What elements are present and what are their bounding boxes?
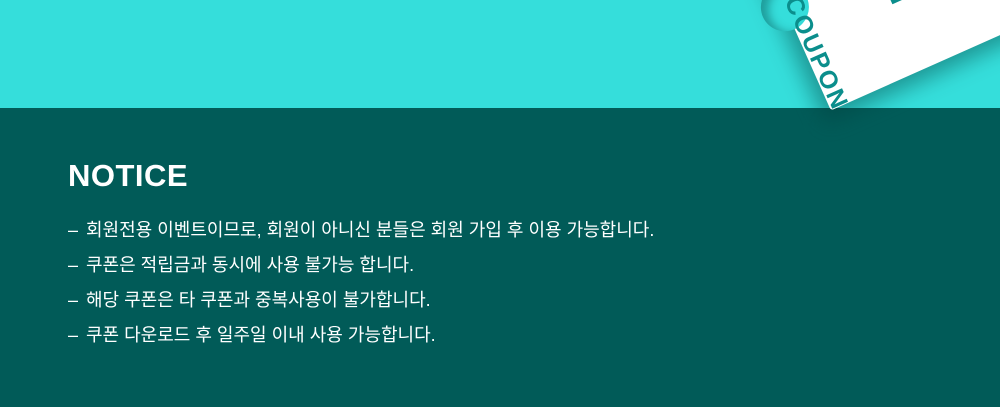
bullet-dash-icon: – — [68, 248, 86, 283]
notice-item-text: 쿠폰은 적립금과 동시에 사용 불가능 합니다. — [86, 248, 414, 283]
notice-item-text: 쿠폰 다운로드 후 일주일 이내 사용 가능합니다. — [86, 318, 436, 353]
notice-item-text: 회원전용 이벤트이므로, 회원이 아니신 분들은 회원 가입 후 이용 가능합니… — [86, 213, 654, 248]
bullet-dash-icon: – — [68, 318, 86, 353]
bullet-dash-icon: – — [68, 283, 86, 318]
notice-list-item: – 쿠폰 다운로드 후 일주일 이내 사용 가능합니다. — [68, 318, 828, 353]
notice-list-item: – 해당 쿠폰은 타 쿠폰과 중복사용이 불가합니다. — [68, 283, 828, 318]
bullet-dash-icon: – — [68, 213, 86, 248]
notice-list-item: – 쿠폰은 적립금과 동시에 사용 불가능 합니다. — [68, 248, 828, 283]
coupon-discount-amount: 10% — [845, 0, 1000, 25]
notice-title: NOTICE — [68, 160, 828, 191]
notice-section: NOTICE – 회원전용 이벤트이므로, 회원이 아니신 분들은 회원 가입 … — [68, 160, 828, 353]
coupon-notice-banner: COUPON 10% NOTICE – 회원전용 이벤트이므로, 회원이 아니신… — [0, 0, 1000, 407]
notice-list-item: – 회원전용 이벤트이므로, 회원이 아니신 분들은 회원 가입 후 이용 가능… — [68, 213, 828, 248]
notice-item-text: 해당 쿠폰은 타 쿠폰과 중복사용이 불가합니다. — [86, 283, 431, 318]
notice-list: – 회원전용 이벤트이므로, 회원이 아니신 분들은 회원 가입 후 이용 가능… — [68, 213, 828, 353]
